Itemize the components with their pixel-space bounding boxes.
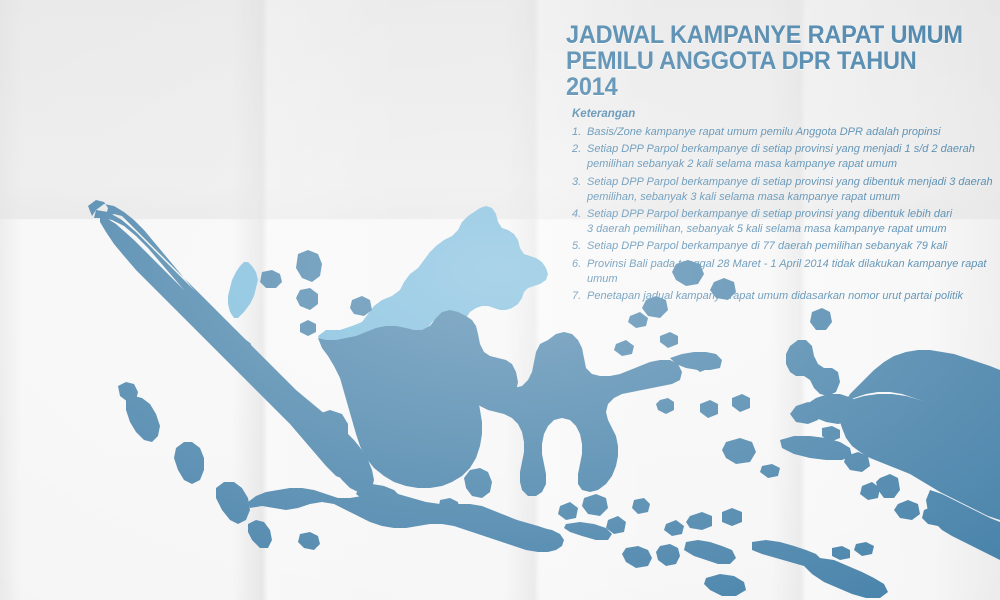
infographic-canvas: JADWAL KAMPANYE RAPAT UMUM PEMILU ANGGOT… bbox=[0, 0, 1000, 600]
legend-note-text: Provinsi Bali pada tanggal 28 Maret - 1 … bbox=[587, 257, 994, 287]
legend-note-number: 3. bbox=[572, 175, 587, 190]
legend-note-text: Setiap DPP Parpol berkampanye di setiap … bbox=[587, 175, 994, 205]
legend-note-item: 1.Basis/Zone kampanye rapat umum pemilu … bbox=[572, 125, 994, 140]
legend-note-number: 4. bbox=[572, 207, 587, 222]
legend-note-item: 5.Setiap DPP Parpol berkampanye di 77 da… bbox=[572, 239, 994, 254]
legend-note-number: 1. bbox=[572, 125, 587, 140]
legend-note-text: Penetapan jadual kampanye rapat umum did… bbox=[587, 289, 994, 304]
legend-note-number: 5. bbox=[572, 239, 587, 254]
legend-note-number: 2. bbox=[572, 142, 587, 157]
legend-note-number: 6. bbox=[572, 257, 587, 272]
legend-note-item: 6.Provinsi Bali pada tanggal 28 Maret - … bbox=[572, 257, 994, 287]
legend-note-text: Setiap DPP Parpol berkampanye di setiap … bbox=[587, 142, 994, 172]
page-title: JADWAL KAMPANYE RAPAT UMUM PEMILU ANGGOT… bbox=[566, 22, 968, 100]
legend-note-item: 3.Setiap DPP Parpol berkampanye di setia… bbox=[572, 175, 994, 205]
legend-note-item: 4.Setiap DPP Parpol berkampanye di setia… bbox=[572, 207, 994, 237]
legend-note-text: Basis/Zone kampanye rapat umum pemilu An… bbox=[587, 125, 994, 140]
legend-text-block: JADWAL KAMPANYE RAPAT UMUM PEMILU ANGGOT… bbox=[566, 22, 994, 306]
legend-note-text: Setiap DPP Parpol berkampanye di setiap … bbox=[587, 207, 994, 237]
legend-note-text: Setiap DPP Parpol berkampanye di 77 daer… bbox=[587, 239, 994, 254]
legend-note-item: 2.Setiap DPP Parpol berkampanye di setia… bbox=[572, 142, 994, 172]
legend-notes-list: 1.Basis/Zone kampanye rapat umum pemilu … bbox=[566, 125, 994, 304]
legend-note-item: 7.Penetapan jadual kampanye rapat umum d… bbox=[572, 289, 994, 304]
legend-note-number: 7. bbox=[572, 289, 587, 304]
legend-subtitle: Keterangan bbox=[572, 108, 994, 120]
